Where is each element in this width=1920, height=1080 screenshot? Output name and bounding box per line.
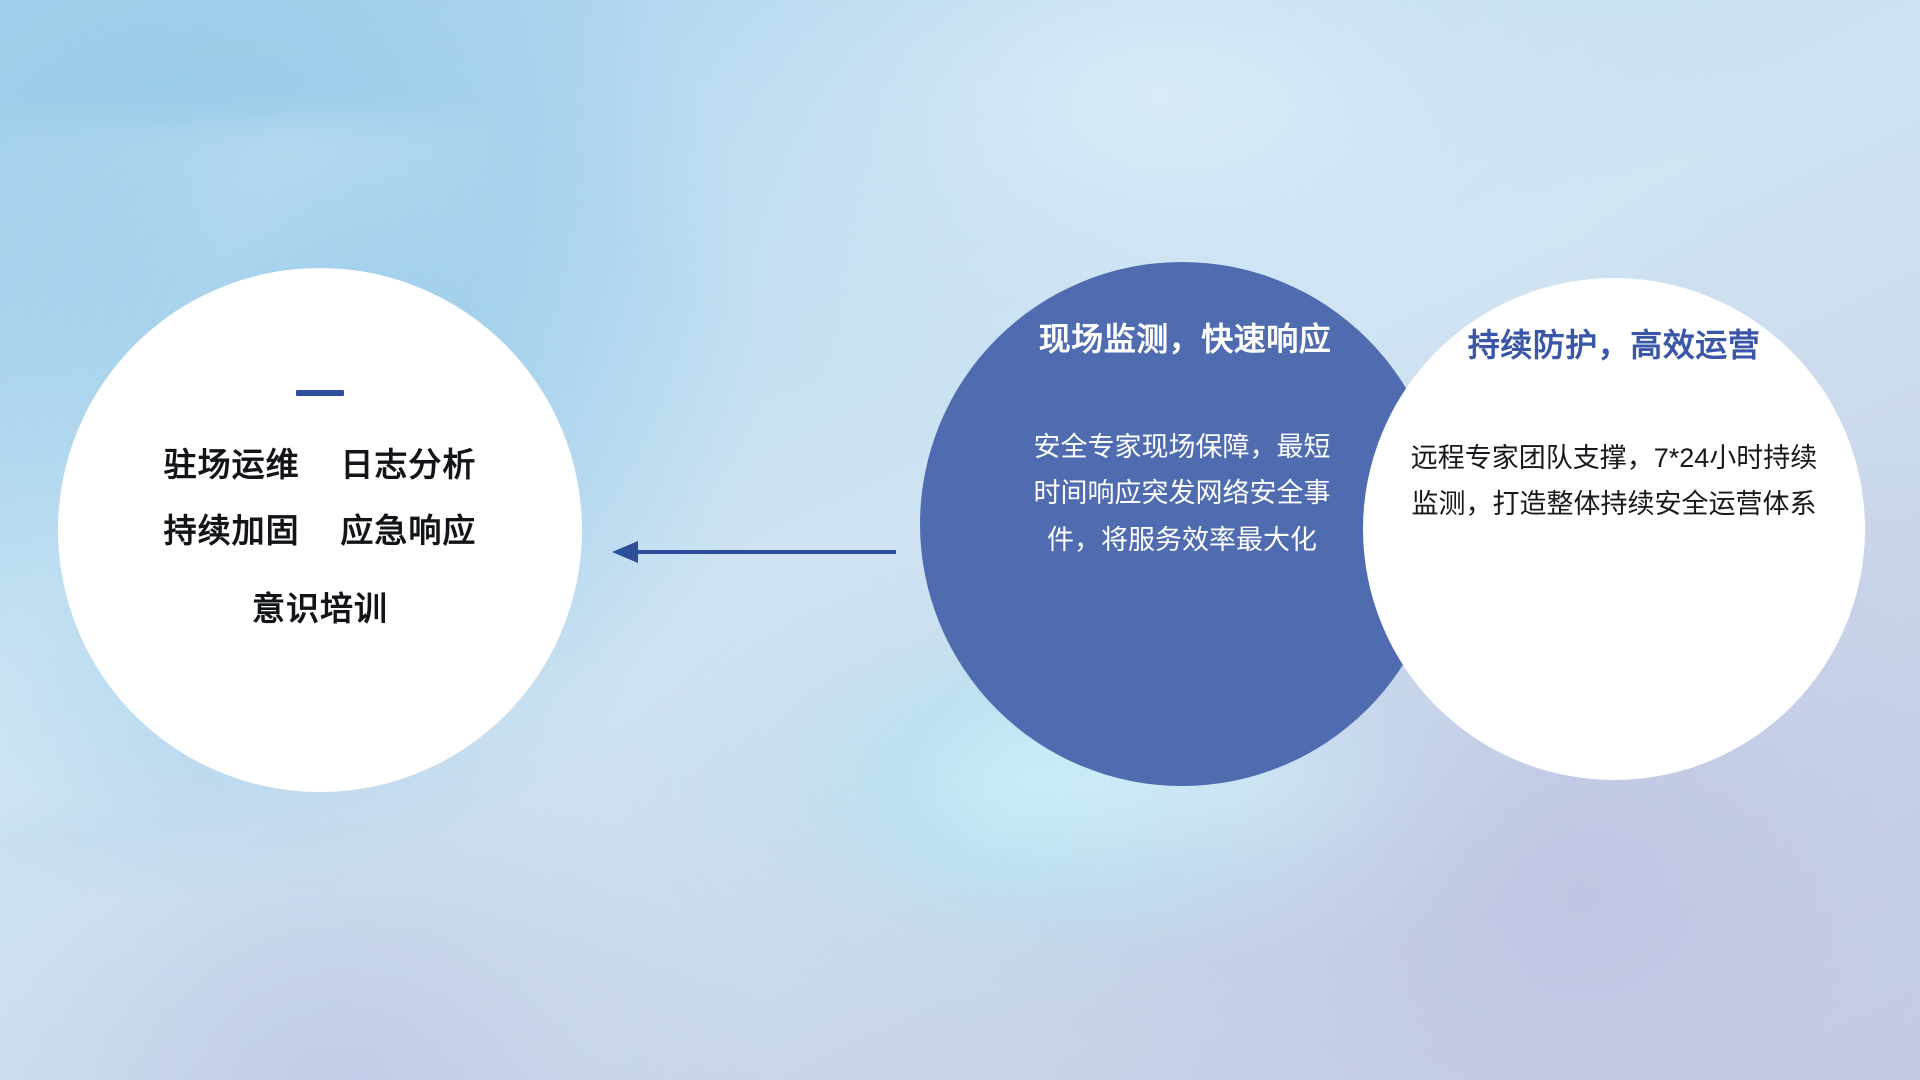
slide-canvas: 驻场运维 日志分析 持续加固 应急响应 意识培训 现场监测，快速响应 安全专家现…	[0, 0, 1920, 1080]
middle-circle-title: 现场监测，快速响应	[1039, 314, 1332, 360]
right-circle-title: 持续防护，高效运营	[1468, 320, 1761, 366]
right-circle-content: 持续防护，高效运营 远程专家团队支撑，7*24小时持续监测，打造整体持续安全运营…	[1363, 278, 1865, 780]
left-keyword-line-2: 持续加固 应急响应	[164, 514, 477, 549]
arrow-left-icon	[608, 528, 898, 576]
middle-circle-body: 安全专家现场保障，最短时间响应突发网络安全事件，将服务效率最大化	[1032, 424, 1332, 563]
horizontal-rule-icon	[296, 390, 344, 396]
left-circle-content: 驻场运维 日志分析 持续加固 应急响应 意识培训	[58, 268, 582, 792]
left-keyword-line-1: 驻场运维 日志分析	[164, 448, 477, 483]
left-keyword-line-3: 意识培训	[252, 592, 388, 627]
right-circle-body: 远程专家团队支撑，7*24小时持续监测，打造整体持续安全运营体系	[1399, 436, 1829, 528]
